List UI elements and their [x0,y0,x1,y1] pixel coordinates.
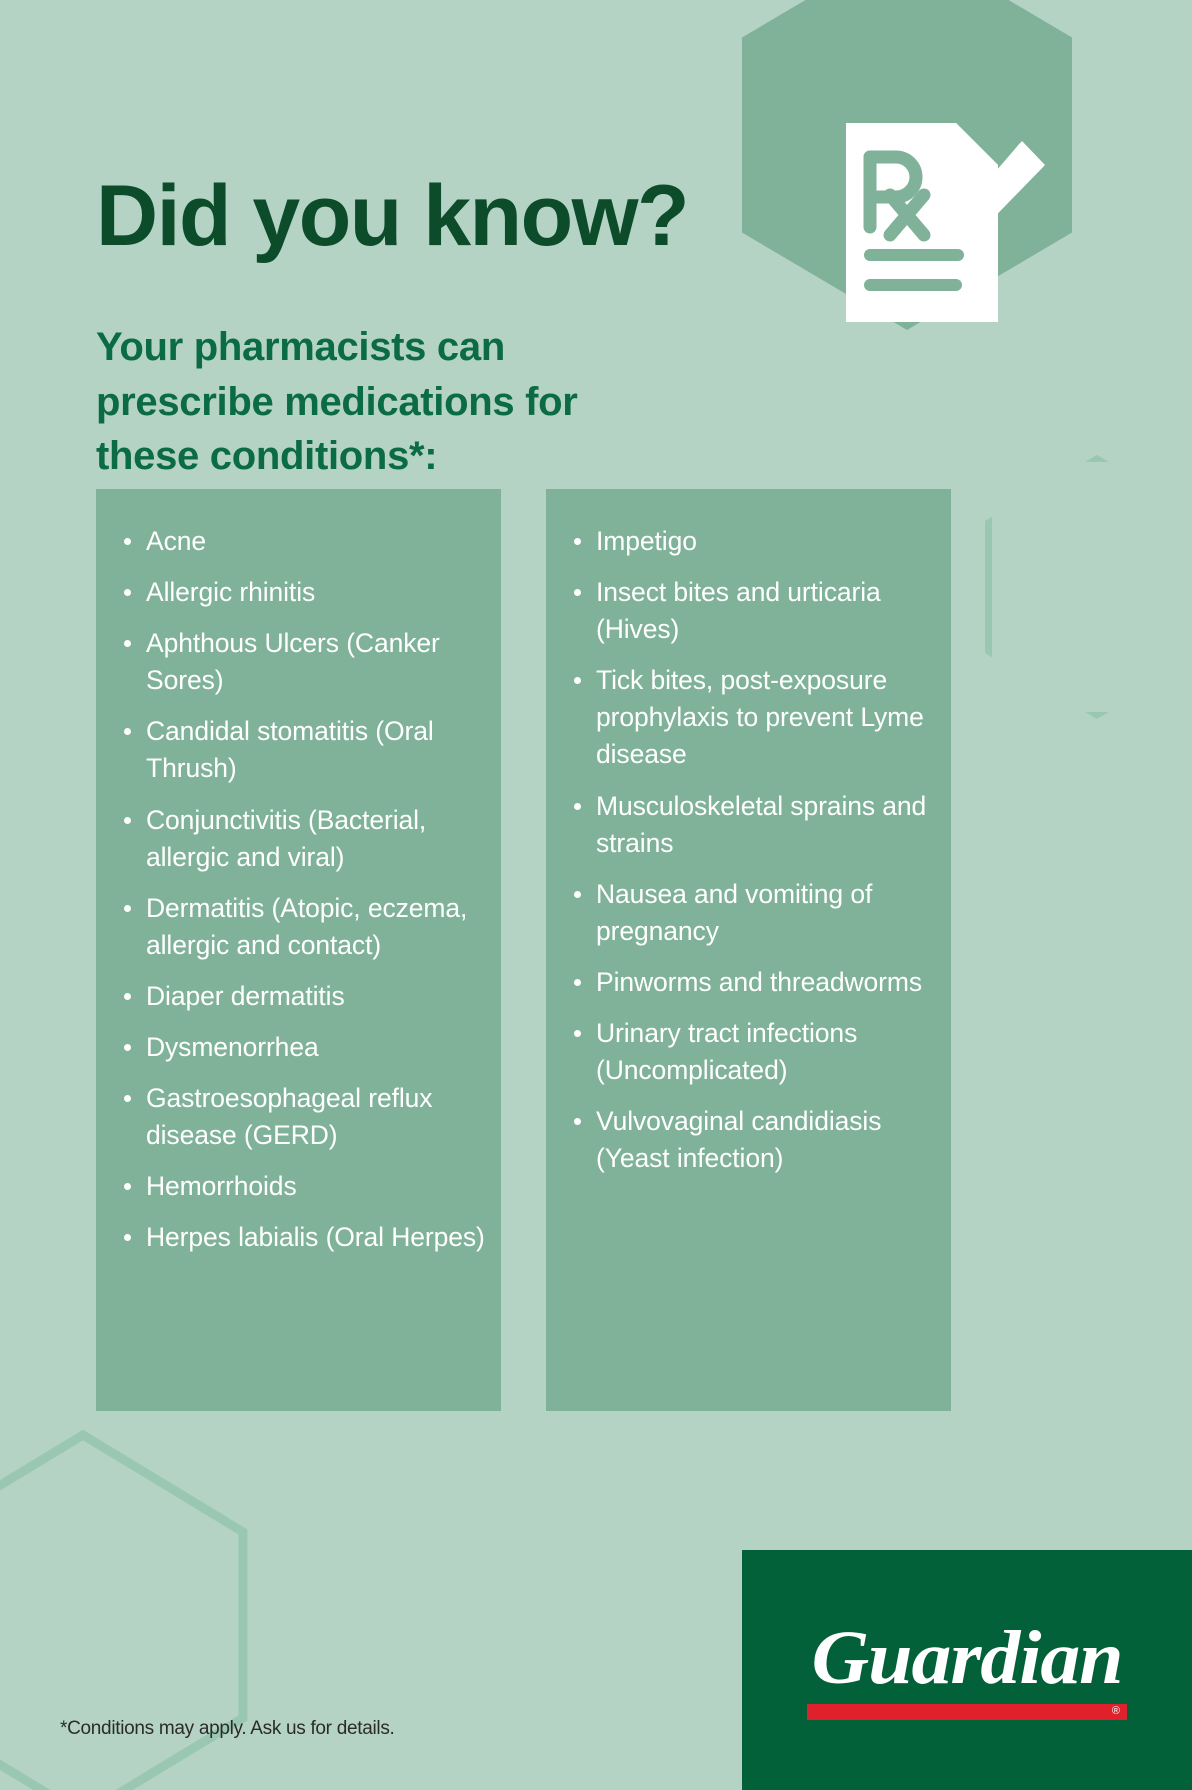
conditions-panels: Acne Allergic rhinitis Aphthous Ulcers (… [96,489,1096,1411]
list-item: Urinary tract infections (Uncomplicated) [560,1015,937,1089]
left-conditions-list: Acne Allergic rhinitis Aphthous Ulcers (… [110,523,487,1257]
list-item: Tick bites, post-exposure prophylaxis to… [560,662,937,773]
page-title: Did you know? [96,173,688,259]
list-item: Diaper dermatitis [110,978,487,1015]
list-item: Herpes labialis (Oral Herpes) [110,1219,487,1256]
list-item: Vulvovaginal candidiasis (Yeast infectio… [560,1103,937,1177]
list-item: Conjunctivitis (Bacterial, allergic and … [110,802,487,876]
list-item: Hemorrhoids [110,1168,487,1205]
list-item: Dermatitis (Atopic, eczema, allergic and… [110,890,487,964]
list-item: Aphthous Ulcers (Canker Sores) [110,625,487,699]
list-item: Gastroesophageal reflux disease (GERD) [110,1080,487,1154]
right-conditions-list: Impetigo Insect bites and urticaria (Hiv… [560,523,937,1177]
guardian-logo-bar: ® [807,1704,1127,1720]
list-item: Musculoskeletal sprains and strains [560,788,937,862]
page-subtitle: Your pharmacists can prescribe medicatio… [96,320,636,483]
registered-trademark-icon: ® [1112,1705,1120,1718]
right-conditions-panel: Impetigo Insect bites and urticaria (Hiv… [546,489,951,1411]
poster-canvas: Did you know? Your pharmacists can presc… [0,0,1192,1790]
left-conditions-panel: Acne Allergic rhinitis Aphthous Ulcers (… [96,489,501,1411]
list-item: Insect bites and urticaria (Hives) [560,574,937,648]
list-item: Allergic rhinitis [110,574,487,611]
list-item: Dysmenorrhea [110,1029,487,1066]
list-item: Pinworms and threadworms [560,964,937,1001]
list-item: Nausea and vomiting of pregnancy [560,876,937,950]
footnote-disclaimer: *Conditions may apply. Ask us for detail… [60,1718,395,1740]
rx-prescription-pen-icon [838,115,1048,330]
list-item: Impetigo [560,523,937,560]
guardian-logo: Guardian ® [742,1550,1192,1790]
guardian-logo-wordmark: Guardian [812,1620,1123,1696]
list-item: Acne [110,523,487,560]
list-item: Candidal stomatitis (Oral Thrush) [110,713,487,787]
